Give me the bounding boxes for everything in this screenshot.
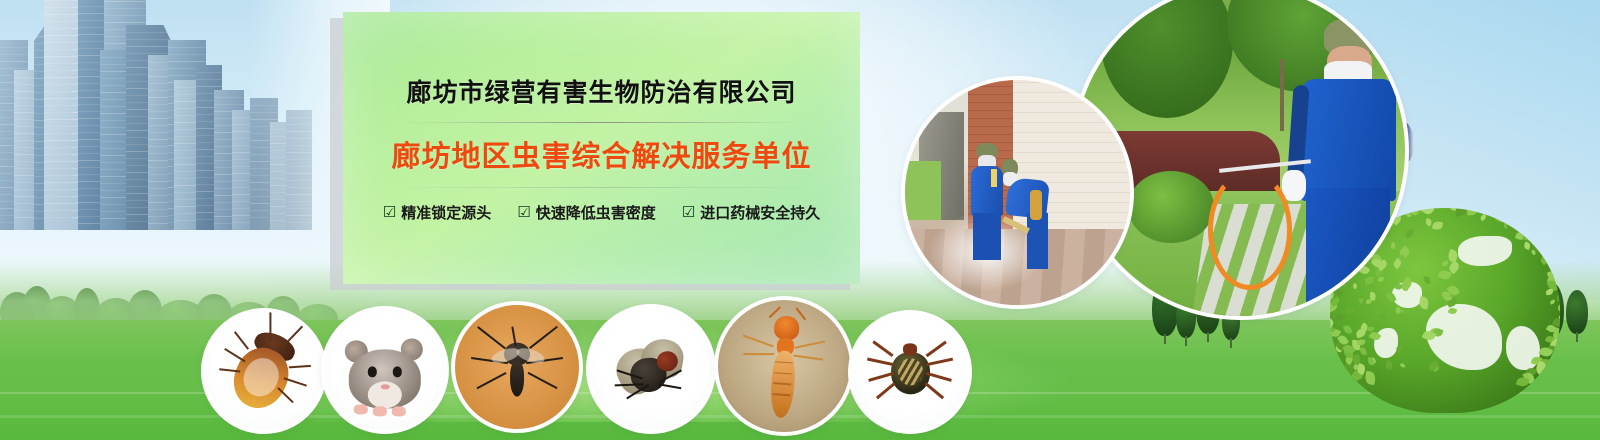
globe-leaf: [1404, 228, 1415, 239]
company-name: 廊坊市绿营有害生物防治有限公司: [406, 73, 796, 109]
globe-leaf: [1357, 338, 1366, 346]
pest-circle-mosquito: [455, 305, 579, 429]
feature-item: ☑进口药械安全持久: [682, 202, 820, 223]
globe-leaf: [1342, 324, 1352, 335]
promo-banner: 廊坊市绿营有害生物防治有限公司 廊坊地区虫害综合解决服务单位 ☑精准锁定源头☑快…: [0, 0, 1600, 440]
globe-leaf: [1364, 371, 1376, 385]
globe-leaf: [1385, 360, 1394, 370]
tree: [1566, 290, 1588, 342]
termite-icon: [718, 300, 850, 432]
globe-leaf: [1367, 357, 1374, 365]
building: [100, 50, 130, 230]
feature-label: 进口药械安全持久: [700, 202, 820, 223]
tagline: 廊坊地区虫害综合解决服务单位: [391, 133, 811, 175]
globe-leaf: [1355, 328, 1367, 339]
globe-leaf: [1480, 214, 1488, 222]
pest-circle-fly: [590, 308, 712, 430]
globe-leaf: [1557, 292, 1560, 301]
globe-leaf: [1433, 221, 1444, 230]
check-icon: ☑: [383, 205, 396, 220]
globe-leaf: [1549, 299, 1555, 305]
cockroach-icon: [205, 312, 323, 430]
feature-label: 精准锁定源头: [401, 202, 491, 223]
headline-panel: 廊坊市绿营有害生物防治有限公司 廊坊地区虫害综合解决服务单位 ☑精准锁定源头☑快…: [343, 12, 860, 284]
pest-circle-tick: [852, 314, 968, 430]
globe-leaf: [1423, 276, 1430, 285]
photo-circle-fogging-crew: [905, 80, 1130, 305]
worker-blue-uniform: [1280, 12, 1405, 316]
divider: [402, 122, 802, 123]
feature-item: ☑快速降低虫害密度: [517, 202, 655, 223]
globe-continent: [1458, 236, 1512, 266]
feature-item: ☑精准锁定源头: [383, 202, 491, 223]
globe-leaf: [1429, 264, 1437, 272]
rat-icon: [325, 310, 445, 430]
feature-list: ☑精准锁定源头☑快速降低虫害密度☑进口药械安全持久: [383, 202, 820, 223]
globe-leaf: [1428, 361, 1440, 371]
globe-leaf: [1424, 217, 1432, 226]
pest-circle-rat: [325, 310, 445, 430]
pest-circle-termite: [718, 300, 850, 432]
divider: [387, 187, 817, 188]
fly-icon: [590, 308, 712, 430]
globe-leaf: [1524, 242, 1531, 250]
globe-leaf: [1522, 230, 1536, 242]
check-icon: ☑: [682, 205, 695, 220]
feature-label: 快速降低虫害密度: [536, 202, 656, 223]
worker-bending: [1000, 157, 1054, 270]
globe-leaf: [1419, 296, 1430, 309]
globe-leaf: [1441, 260, 1448, 266]
globe-leaf: [1546, 289, 1553, 295]
pest-circle-cockroach: [205, 312, 323, 430]
tick-icon: [852, 314, 968, 430]
mosquito-icon: [455, 305, 579, 429]
check-icon: ☑: [517, 205, 530, 220]
globe-leaf: [1421, 208, 1435, 216]
shrub2: [1128, 171, 1214, 244]
globe-leaf: [1400, 362, 1406, 369]
fogging-scene: [905, 80, 1130, 305]
globe-leaf: [1359, 347, 1367, 356]
